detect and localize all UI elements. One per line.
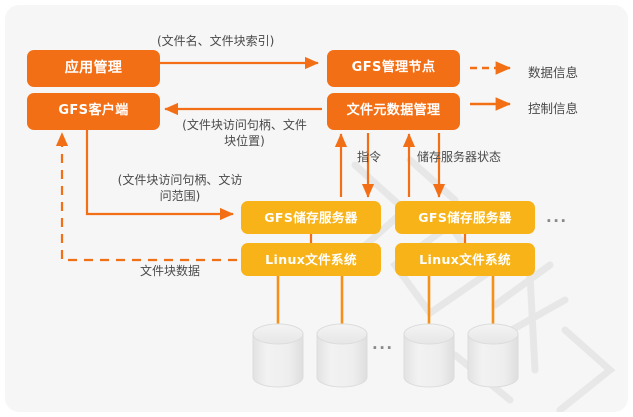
label-storage-server-state: 储存服务器状态 xyxy=(417,149,527,165)
node-linux-fs-2[interactable]: Linux文件系统 xyxy=(395,243,535,276)
disk-cylinder xyxy=(404,324,454,387)
node-file-metadata[interactable]: 文件元数据管理 xyxy=(327,93,460,130)
node-storage-server-1[interactable]: GFS储存服务器 xyxy=(241,201,381,234)
disk-group xyxy=(253,324,518,387)
diagram-stage: 应用管理 GFS客户端 GFS管理节点 文件元数据管理 GFS储存服务器 Lin… xyxy=(0,0,633,417)
node-gfs-master[interactable]: GFS管理节点 xyxy=(327,50,460,87)
node-storage-server-2[interactable]: GFS储存服务器 xyxy=(395,201,535,234)
legend-label-data-info: 数据信息 xyxy=(528,62,578,81)
ellipsis-storage-row: ... xyxy=(546,208,568,226)
node-app-management[interactable]: 应用管理 xyxy=(27,50,160,87)
label-file-name-index: (文件名、文件块索引) xyxy=(157,33,372,49)
ellipsis-disk-row: ... xyxy=(372,335,394,353)
disk-cylinder xyxy=(253,324,303,387)
disk-cylinder xyxy=(468,324,518,387)
disk-cylinder xyxy=(317,324,367,387)
label-command: 指令 xyxy=(357,149,407,165)
diagram-canvas: 应用管理 GFS客户端 GFS管理节点 文件元数据管理 GFS储存服务器 Lin… xyxy=(5,5,628,412)
label-chunk-handle-range: (文件块访问句柄、文访 问范围) xyxy=(90,172,270,204)
node-gfs-client[interactable]: GFS客户端 xyxy=(27,93,160,130)
legend-label-control-info: 控制信息 xyxy=(528,98,578,117)
label-chunk-handle-location: (文件块访问句柄、文件 块位置) xyxy=(162,117,327,149)
label-chunk-data: 文件块数据 xyxy=(105,263,235,279)
node-linux-fs-1[interactable]: Linux文件系统 xyxy=(241,243,381,276)
